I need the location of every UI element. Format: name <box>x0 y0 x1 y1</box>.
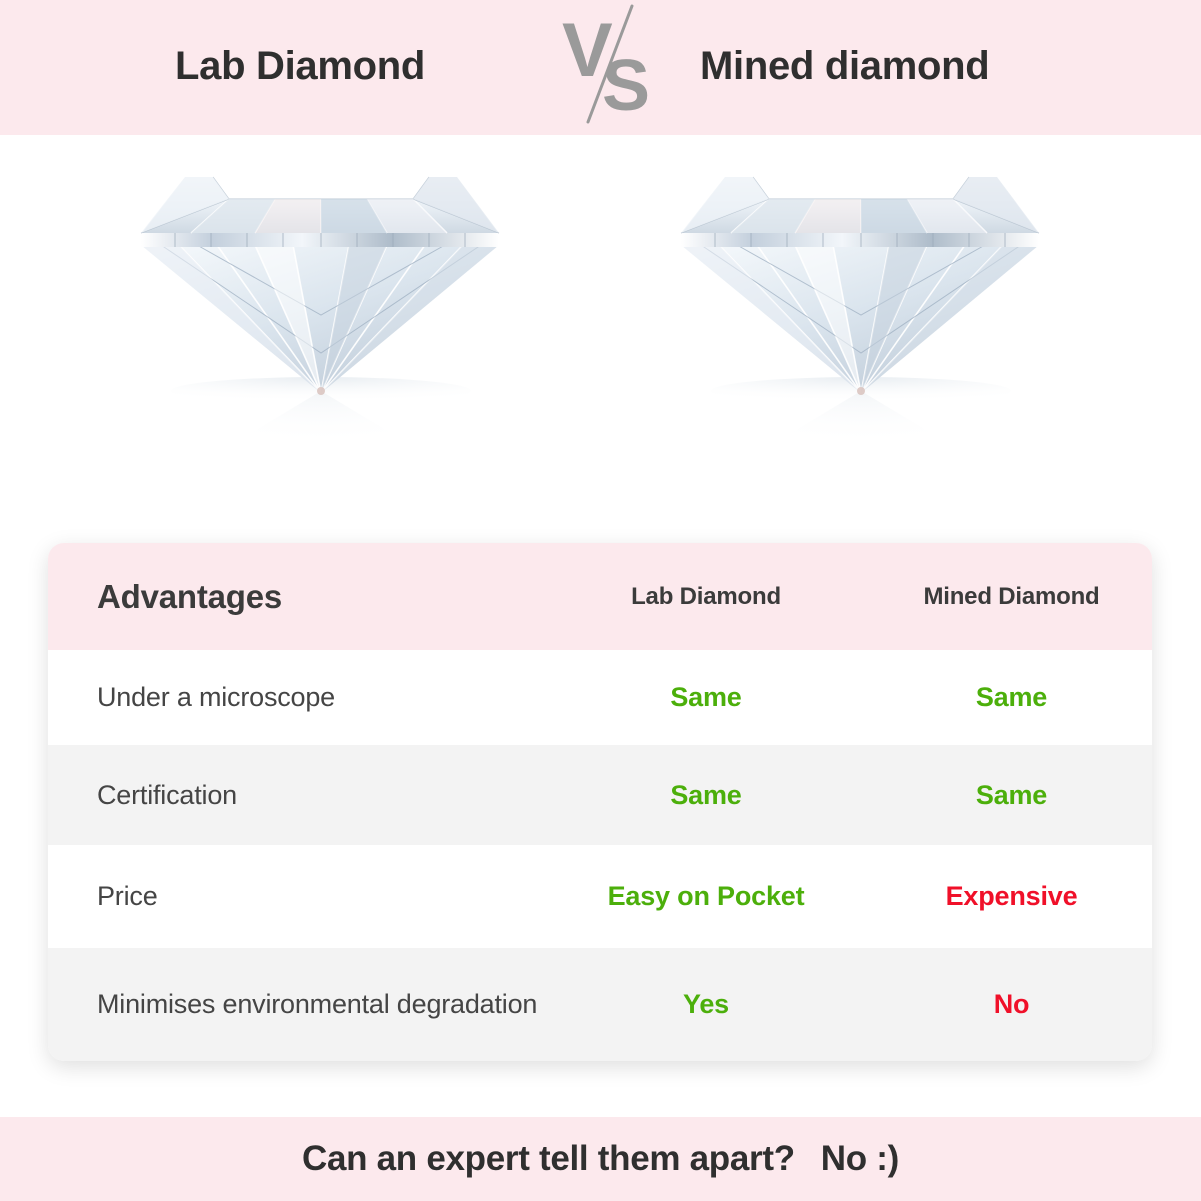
table-header-lab-label: Lab Diamond <box>631 583 781 610</box>
footer-question: Can an expert tell them apart? <box>302 1139 795 1179</box>
row-mined-value-cell: No <box>871 989 1152 1020</box>
row-lab-value-cell: Yes <box>541 989 871 1020</box>
row-mined-value-text: Same <box>976 780 1047 810</box>
row-label-text: Price <box>97 881 158 911</box>
diamond-images-area <box>0 135 1201 525</box>
row-label-cell: Minimises environmental degradation <box>48 985 541 1023</box>
row-mined-value-cell: Same <box>871 780 1152 811</box>
row-mined-value-text: Expensive <box>946 881 1078 911</box>
versus-slash-icon: V S <box>560 0 670 128</box>
row-label-text: Certification <box>97 780 237 810</box>
table-header-mined-cell: Mined Diamond <box>871 583 1152 611</box>
table-row: Price Easy on Pocket Expensive <box>48 845 1152 948</box>
table-header-advantages-cell: Advantages <box>48 578 541 616</box>
row-mined-value-text: No <box>994 989 1030 1019</box>
bottom-banner: Can an expert tell them apart? No :) <box>0 1117 1201 1201</box>
table-row: Under a microscope Same Same <box>48 650 1152 745</box>
row-lab-value-text: Yes <box>683 989 729 1019</box>
row-lab-value-text: Easy on Pocket <box>608 881 805 911</box>
row-lab-value-cell: Same <box>541 780 871 811</box>
table-header-row: Advantages Lab Diamond Mined Diamond <box>48 543 1152 650</box>
comparison-table-card: Advantages Lab Diamond Mined Diamond Und… <box>48 543 1152 1061</box>
table-row: Minimises environmental degradation Yes … <box>48 948 1152 1061</box>
row-lab-value-text: Same <box>670 780 741 810</box>
header-title-mined-diamond: Mined diamond <box>700 44 989 89</box>
footer-answer: No :) <box>821 1139 899 1179</box>
row-label-text: Minimises environmental degradation <box>97 989 537 1019</box>
row-lab-value-cell: Same <box>541 682 871 713</box>
table-row: Certification Same Same <box>48 745 1152 845</box>
row-label-cell: Price <box>48 877 541 915</box>
row-label-text: Under a microscope <box>97 682 335 712</box>
row-mined-value-text: Same <box>976 682 1047 712</box>
table-header-lab-cell: Lab Diamond <box>541 583 871 611</box>
header-title-lab-diamond: Lab Diamond <box>175 44 425 89</box>
row-label-cell: Under a microscope <box>48 678 541 716</box>
row-lab-value-cell: Easy on Pocket <box>541 881 871 912</box>
mined-diamond-image <box>665 155 1055 455</box>
row-label-cell: Certification <box>48 776 541 814</box>
row-lab-value-text: Same <box>670 682 741 712</box>
top-banner: Lab Diamond V S Mined diamond <box>0 0 1201 135</box>
svg-text:S: S <box>602 46 650 126</box>
row-mined-value-cell: Expensive <box>871 881 1152 912</box>
lab-diamond-image <box>125 155 515 455</box>
table-header-advantages-label: Advantages <box>97 578 282 615</box>
table-header-mined-label: Mined Diamond <box>923 583 1099 610</box>
row-mined-value-cell: Same <box>871 682 1152 713</box>
